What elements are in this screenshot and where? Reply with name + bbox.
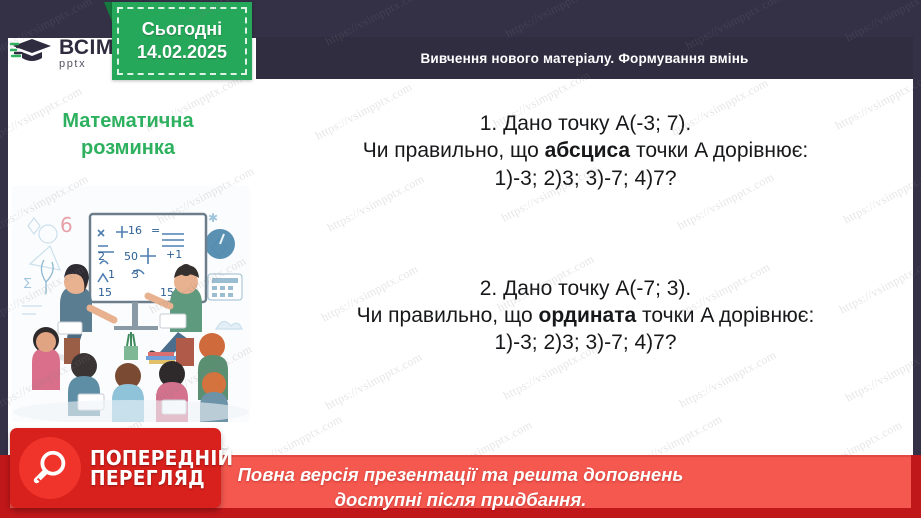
- q2-post: точки A дорівнює:: [636, 304, 814, 327]
- today-date-badge: Сьогодні 14.02.2025: [112, 2, 252, 80]
- svg-text:2: 2: [98, 250, 105, 263]
- graduation-cap-icon: [10, 35, 54, 71]
- slide-header-title: Вивчення нового матеріалу. Формування вм…: [420, 51, 748, 66]
- banner-left-edge: [0, 455, 10, 518]
- question-2-line-1: 2. Дано точку A(-7; 3).: [258, 275, 913, 302]
- svg-text:1: 1: [108, 268, 115, 281]
- question-1-options: 1)-3; 2)3; 3)-7; 4)7?: [258, 165, 913, 192]
- svg-text:6: 6: [60, 213, 73, 237]
- question-block-2: 2. Дано точку A(-7; 3). Чи правильно, що…: [258, 275, 913, 357]
- q1-keyword: абсциса: [545, 139, 631, 162]
- preview-button-label-line-2: ПЕРЕГЛЯД: [90, 468, 233, 488]
- date-badge-value: 14.02.2025: [137, 42, 227, 63]
- banner-right-edge: [911, 455, 921, 518]
- q2-keyword: ордината: [539, 304, 637, 327]
- magnifier-icon: [19, 437, 81, 499]
- section-title-line2: розминка: [14, 135, 242, 162]
- slide-header-bar: Вивчення нового матеріалу. Формування вм…: [256, 37, 913, 79]
- svg-text:=: =: [151, 224, 160, 237]
- brand-logo: ВСІМ pptx: [10, 32, 118, 74]
- section-title-line1: Математична: [14, 108, 242, 135]
- svg-text:✱: ✱: [208, 211, 218, 225]
- date-badge-label: Сьогодні: [142, 19, 222, 40]
- svg-text:16: 16: [128, 224, 142, 237]
- preview-button-label-line-1: ПОПЕРЕДНІЙ: [90, 448, 233, 468]
- q1-pre: Чи правильно, що: [363, 139, 545, 162]
- purchase-notice-line-2: доступні після придбання.: [335, 488, 587, 512]
- question-2-line-2: Чи правильно, що ордината точки A дорівн…: [258, 302, 913, 329]
- svg-text:15: 15: [98, 286, 112, 299]
- svg-text:50: 50: [124, 250, 138, 263]
- section-title: Математична розминка: [14, 108, 242, 162]
- question-2-options: 1)-3; 2)3; 3)-7; 4)7?: [258, 329, 913, 356]
- svg-text:+1: +1: [166, 248, 182, 261]
- question-1-line-2: Чи правильно, що абсциса точки A дорівню…: [258, 137, 913, 164]
- logo-name: ВСІМ: [59, 37, 114, 58]
- svg-text:∑: ∑: [24, 276, 32, 289]
- purchase-notice-line-1: Повна версія презентації та решта доповн…: [238, 463, 684, 487]
- svg-text:3: 3: [132, 268, 139, 281]
- q2-pre: Чи правильно, що: [357, 304, 539, 327]
- q1-post: точки A дорівнює:: [630, 139, 808, 162]
- presentation-slide: 6 ∑ ✱: [0, 0, 921, 518]
- preview-button[interactable]: ПОПЕРЕДНІЙ ПЕРЕГЛЯД: [10, 428, 221, 508]
- question-1-line-1: 1. Дано точку A(-3; 7).: [258, 110, 913, 137]
- math-classroom-illustration: 6 ∑ ✱: [12, 186, 250, 422]
- question-block-1: 1. Дано точку A(-3; 7). Чи правильно, що…: [258, 110, 913, 192]
- logo-suffix: pptx: [59, 59, 114, 70]
- questions-area: 1. Дано точку A(-3; 7). Чи правильно, що…: [258, 92, 913, 444]
- watermark-text: https://vsimpptx.com: [503, 0, 605, 41]
